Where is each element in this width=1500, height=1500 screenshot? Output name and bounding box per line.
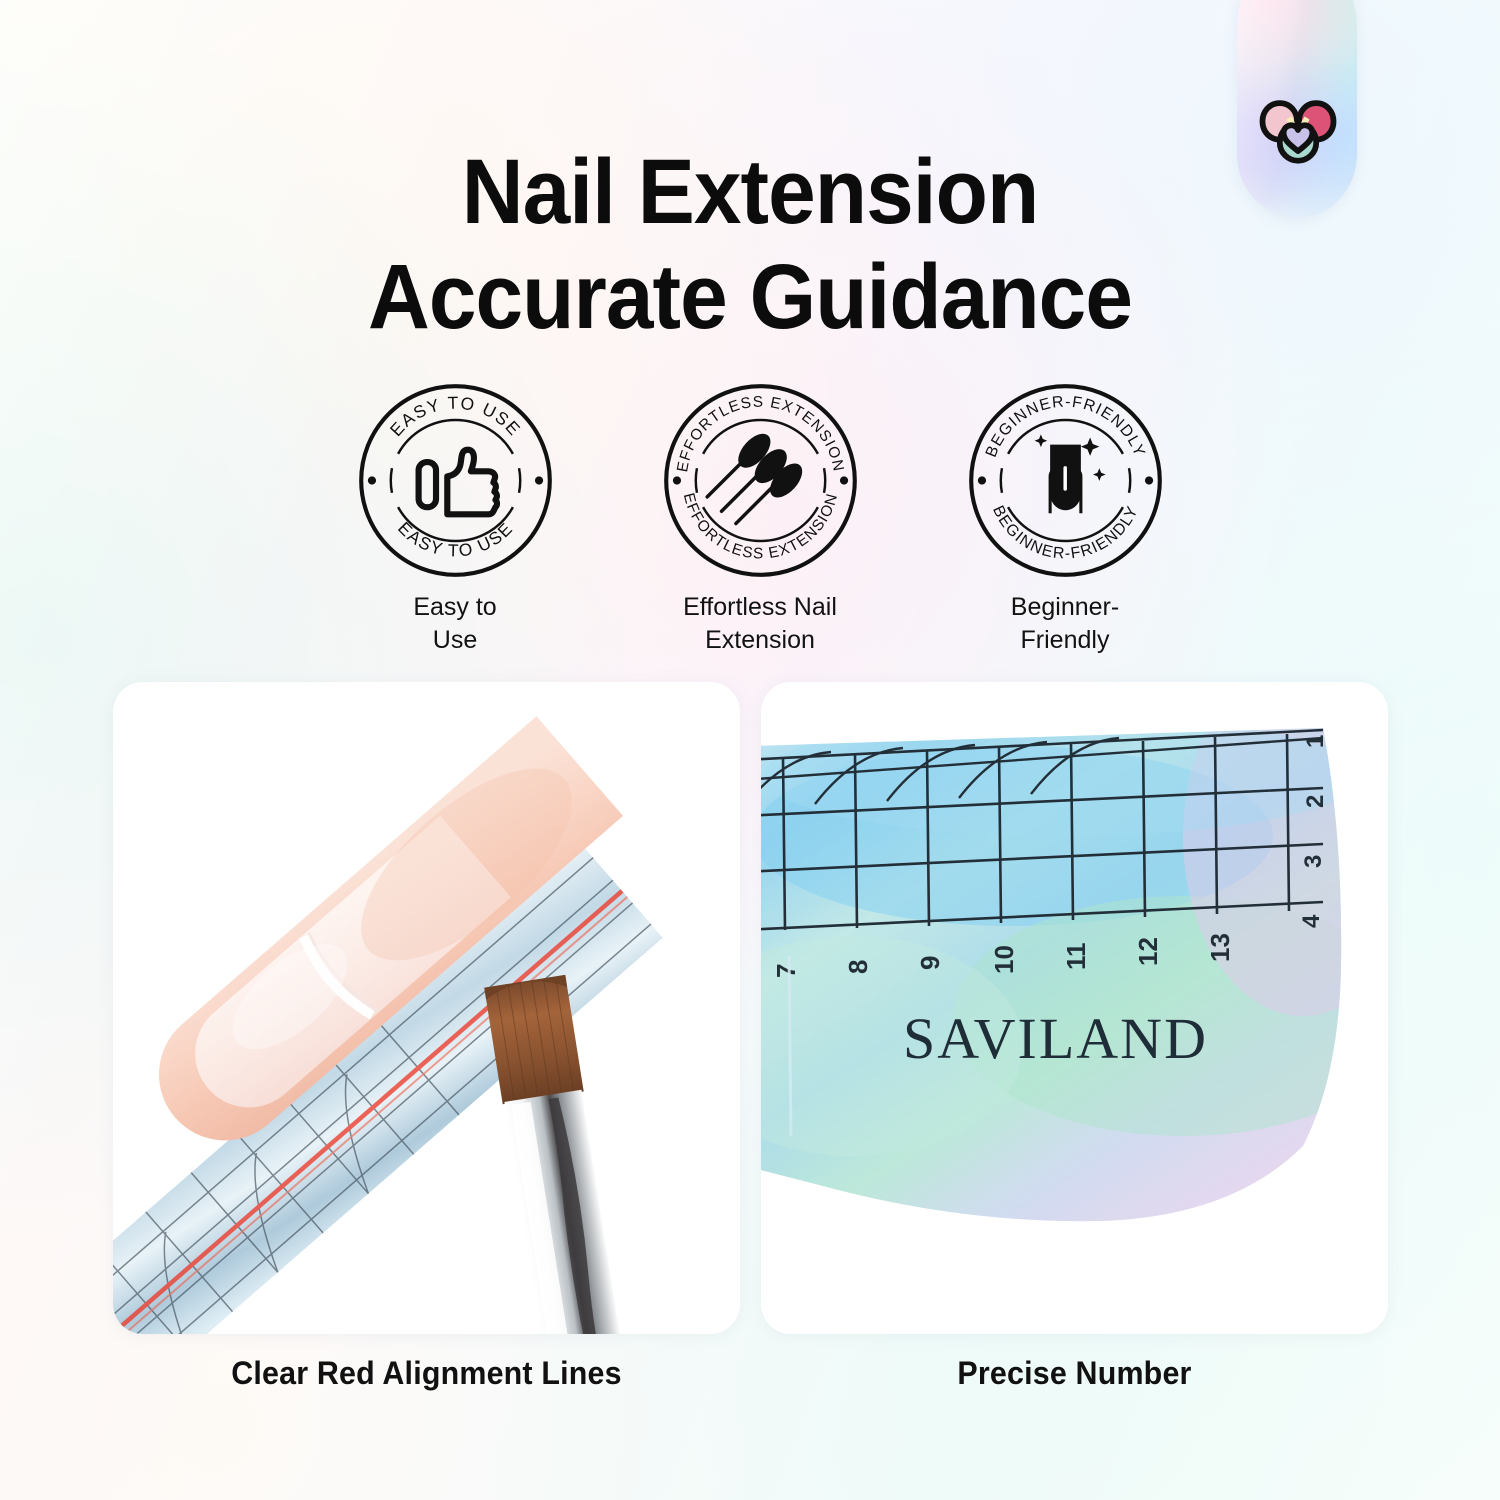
product-infographic: Nail Extension Accurate Guidance [0,0,1500,1500]
photo-card-precise-number: 7 8 9 10 11 12 13 1 2 [761,682,1388,1334]
finger-with-nail-form-and-gel-brush-photo [113,682,740,1334]
feature-label-beginner-friendly: Beginner- Friendly [1011,591,1119,657]
feature-badges-row: EASY TO USE EASY TO USE Easy to Use [330,378,1190,657]
svg-text:EASY TO USE: EASY TO USE [394,518,517,561]
headline-line-2: Accurate Guidance [53,244,1448,350]
feature-easy-to-use: EASY TO USE EASY TO USE Easy to Use [330,378,580,657]
stamp-effortless-extension: EFFORTLESS EXTENSION EFFORTLESS EXTENSIO… [658,378,863,583]
headline-line-1: Nail Extension [53,140,1448,244]
svg-text:EFFORTLESS EXTENSION: EFFORTLESS EXTENSION [679,491,840,562]
feature-label-easy-to-use: Easy to Use [413,591,496,657]
stamp-bottom-text: EASY TO USE [394,518,517,561]
stamp-beginner-friendly: BEGINNER-FRIENDLY BEGINNER-FRIENDLY [963,378,1168,583]
page-title: Nail Extension Accurate Guidance [0,140,1500,350]
feature-label-line-1: Beginner- [1011,591,1119,624]
feature-label-line-2: Use [413,624,496,657]
feature-label-line-2: Extension [683,624,837,657]
feature-label-effortless-extension: Effortless Nail Extension [683,591,837,657]
feature-beginner-friendly: BEGINNER-FRIENDLY BEGINNER-FRIENDLY [940,378,1190,657]
card-captions-row: Clear Red Alignment Lines Precise Number [113,1355,1388,1392]
stamp-easy-to-use: EASY TO USE EASY TO USE [353,378,558,583]
nail-form-ruler-closeup-photo: 7 8 9 10 11 12 13 1 2 [761,682,1388,1334]
stamp-bottom-text: EFFORTLESS EXTENSION [679,491,840,562]
caption-precise-number: Precise Number [777,1355,1373,1392]
finger-nail-sparkle-icon [1034,434,1105,513]
feature-label-line-2: Friendly [1011,624,1119,657]
three-nails-icon [707,428,808,524]
thumbs-up-icon [418,450,496,515]
feature-label-line-1: Effortless Nail [683,591,837,624]
photo-card-alignment-lines [113,682,740,1334]
caption-alignment-lines: Clear Red Alignment Lines [129,1355,725,1392]
feature-effortless-extension: EFFORTLESS EXTENSION EFFORTLESS EXTENSIO… [635,378,885,657]
photo-cards-row: 7 8 9 10 11 12 13 1 2 [113,682,1388,1334]
feature-label-line-1: Easy to [413,591,496,624]
